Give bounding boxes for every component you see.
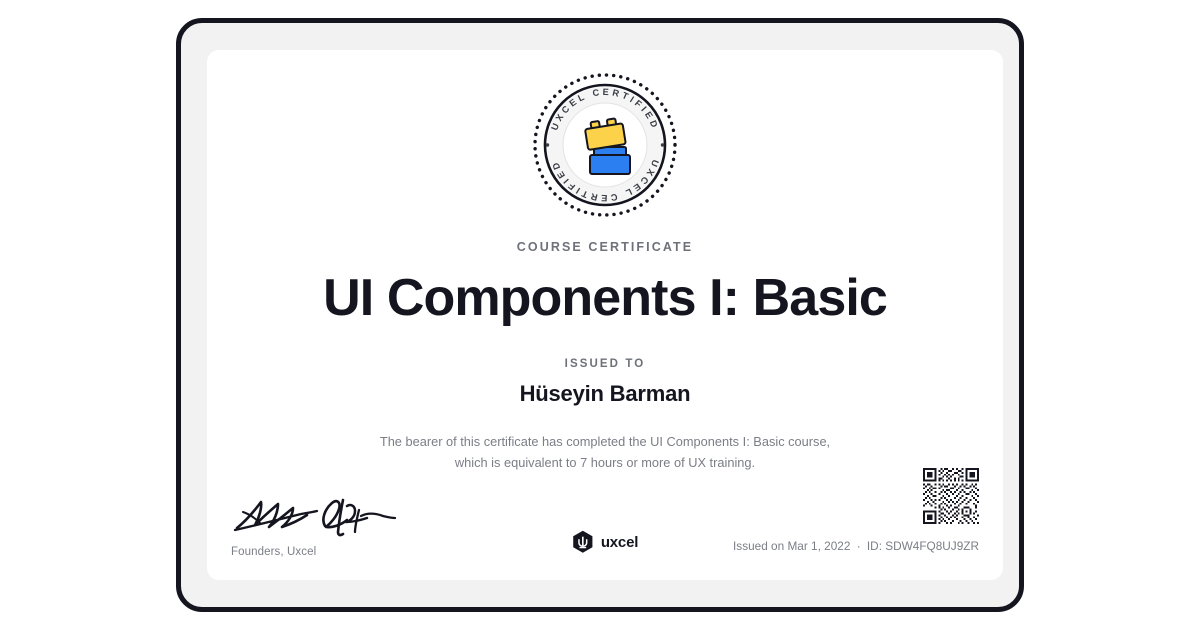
signature-block: Founders, Uxcel: [231, 492, 441, 558]
seal-icon: UXCEL CERTIFIED UXCEL CERTIFIED: [530, 70, 680, 220]
description-line-1: The bearer of this certificate has compl…: [267, 432, 943, 453]
certificate-frame: UXCEL CERTIFIED UXCEL CERTIFIED: [176, 18, 1024, 612]
issue-date: Issued on Mar 1, 2022: [733, 539, 850, 553]
signature-caption: Founders, Uxcel: [231, 546, 441, 558]
founders-signature-icon: [231, 492, 401, 540]
certificate-type-label: COURSE CERTIFICATE: [207, 240, 1003, 254]
issue-metadata: Issued on Mar 1, 2022 · ID: SDW4FQ8UJ9ZR: [733, 539, 979, 553]
brand-logo: uxcel: [572, 530, 638, 554]
certification-seal: UXCEL CERTIFIED UXCEL CERTIFIED: [530, 70, 680, 220]
verification-qr-code[interactable]: [923, 468, 979, 524]
certificate-footer: Founders, Uxcel uxcel: [207, 470, 1003, 580]
issued-to-label: ISSUED TO: [207, 358, 1003, 370]
meta-separator: ·: [854, 539, 864, 553]
uxcel-hexagon-logo-icon: [572, 530, 594, 554]
brand-name: uxcel: [601, 534, 638, 551]
qr-code-icon: [923, 468, 979, 524]
course-title: UI Components I: Basic: [207, 268, 1003, 329]
certificate-id: ID: SDW4FQ8UJ9ZR: [867, 539, 979, 553]
recipient-name: Hüseyin Barman: [207, 381, 1003, 407]
certificate-description: The bearer of this certificate has compl…: [267, 432, 943, 473]
certificate-card: UXCEL CERTIFIED UXCEL CERTIFIED: [207, 50, 1003, 580]
